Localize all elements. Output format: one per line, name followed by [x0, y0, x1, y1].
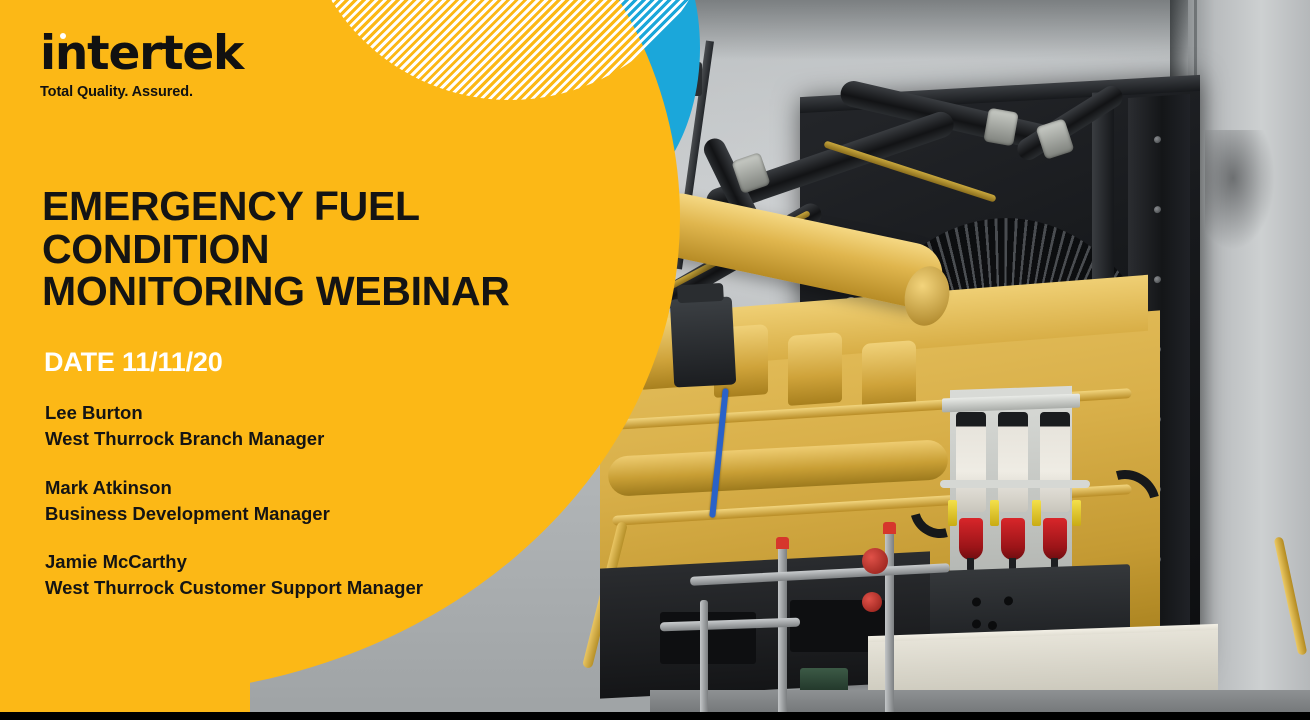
- title-line-1: EMERGENCY FUEL: [42, 185, 602, 228]
- fuel-filter-canister: [998, 412, 1028, 512]
- speaker-list: Lee Burton West Thurrock Branch Manager …: [45, 400, 565, 624]
- speaker-name: Jamie McCarthy: [45, 549, 565, 575]
- webinar-title-slide: intertek Total Quality. Assured. EMERGEN…: [0, 0, 1310, 720]
- speaker-name: Mark Atkinson: [45, 475, 565, 501]
- logo-tagline: Total Quality. Assured.: [40, 84, 243, 100]
- list-item: Jamie McCarthy West Thurrock Customer Su…: [45, 549, 565, 602]
- title-line-3: MONITORING WEBINAR: [42, 270, 602, 313]
- wall-stain: [1205, 130, 1275, 250]
- page-title: EMERGENCY FUEL CONDITION MONITORING WEBI…: [42, 185, 602, 313]
- intertek-logo: intertek Total Quality. Assured.: [40, 30, 243, 100]
- handrail-cap: [776, 537, 789, 549]
- list-item: Lee Burton West Thurrock Branch Manager: [45, 400, 565, 453]
- speaker-role: Business Development Manager: [45, 501, 565, 527]
- speaker-name: Lee Burton: [45, 400, 565, 426]
- fuel-valve: [862, 548, 888, 574]
- fuel-manifold-pipe: [940, 480, 1090, 488]
- speaker-role: West Thurrock Branch Manager: [45, 426, 565, 452]
- list-item: Mark Atkinson Business Development Manag…: [45, 475, 565, 528]
- webinar-date: DATE 11/11/20: [44, 347, 223, 378]
- water-separator-bowl: [1043, 518, 1067, 560]
- handrail-cap: [883, 522, 896, 534]
- title-line-2: CONDITION: [42, 228, 602, 271]
- speaker-role: West Thurrock Customer Support Manager: [45, 575, 565, 601]
- fuel-valve: [862, 592, 882, 612]
- pipe-clamp: [983, 108, 1018, 147]
- water-separator-bowl: [1001, 518, 1025, 560]
- logo-wordmark: intertek: [40, 30, 243, 77]
- bottom-letterbox-bar: [0, 712, 1310, 720]
- logo-dot-icon: [60, 33, 66, 39]
- slide-content: intertek Total Quality. Assured. EMERGEN…: [0, 0, 700, 720]
- fuel-filter-canister: [1040, 412, 1070, 512]
